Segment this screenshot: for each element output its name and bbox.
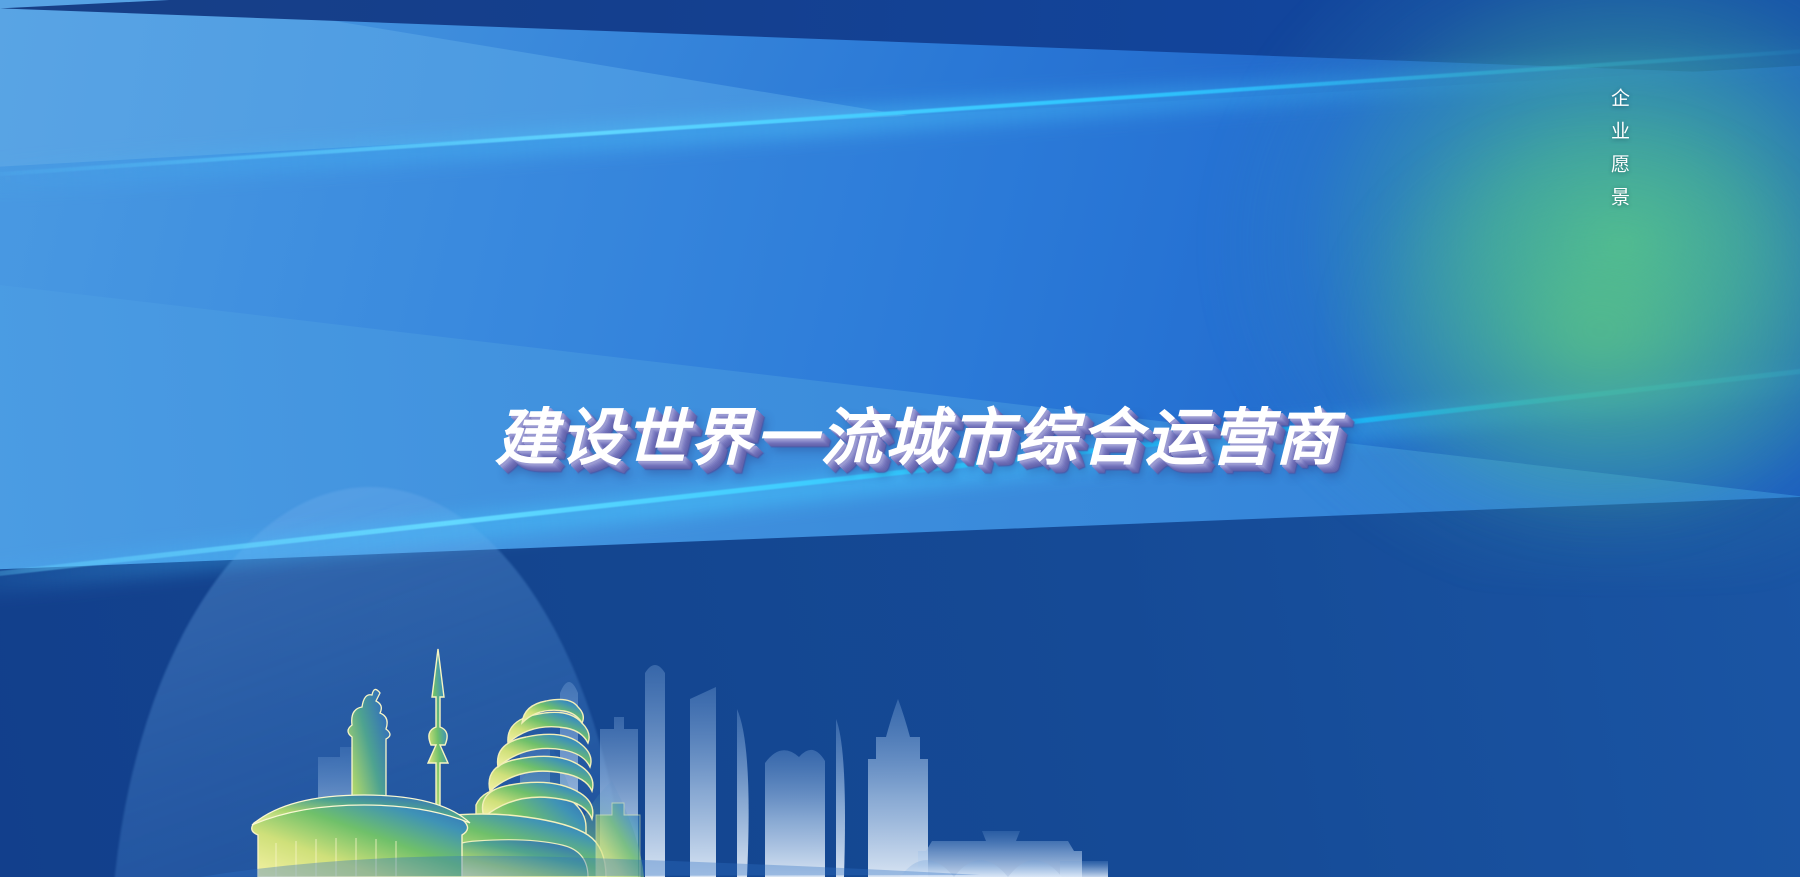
vision-slide: 企业愿景 建设世界一流城市综合运营商 <box>0 0 1800 877</box>
far-right-block <box>1060 861 1108 877</box>
skyline-illustration <box>0 577 1800 877</box>
green-radial-glow-inner <box>1340 120 1800 540</box>
slim-needle-tower <box>836 719 845 877</box>
vertical-section-label: 企业愿景 <box>1609 88 1628 220</box>
dotted-facade-tower <box>690 687 716 877</box>
landmark-group <box>252 649 640 877</box>
curved-blade-tower <box>737 709 749 877</box>
page-title: 建设世界一流城市综合运营商 <box>495 387 1340 477</box>
cctv-frame-tower <box>765 750 825 877</box>
diagrid-tower <box>645 665 665 877</box>
spire-skyscraper <box>868 699 928 877</box>
city-skyline <box>0 577 1800 877</box>
